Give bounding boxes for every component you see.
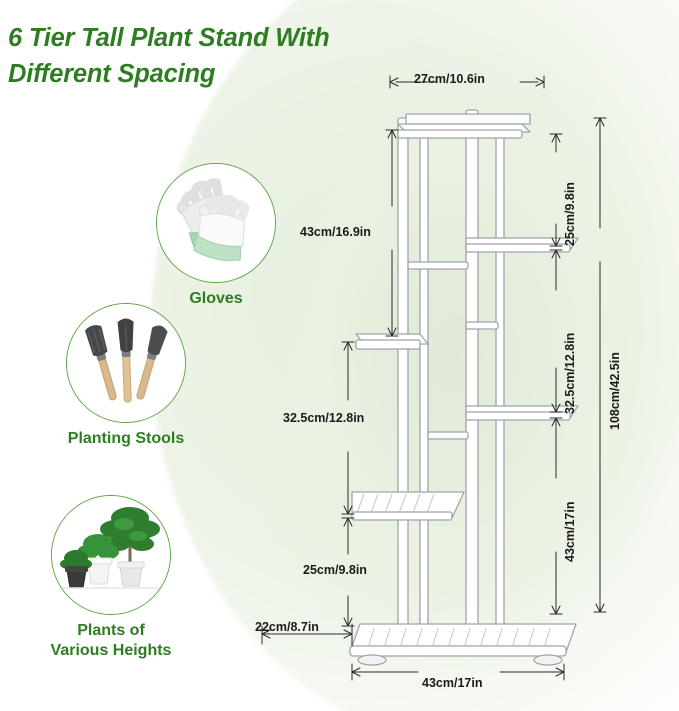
feature-plants-caption-line-2: Various Heights [51,642,172,659]
page-title-line-2: Different Spacing [8,56,408,92]
feature-stools-image [66,303,186,423]
dimension-right-third-gap: 43cm/17in [563,502,577,562]
feature-stools-caption: Planting Stools [60,429,192,449]
feature-plants-image [51,495,171,615]
dimension-top-width: 27cm/10.6in [414,72,485,86]
dimension-right-second-gap: 32.5cm/12.8in [563,333,577,414]
feature-plants-caption: Plants of Various Heights [45,621,177,661]
feature-gloves-image [156,163,276,283]
product-infographic-page: 6 Tier Tall Plant Stand With Different S… [0,0,679,711]
dimension-base-width: 43cm/17in [422,676,482,690]
dimension-base-depth: 22cm/8.7in [255,620,319,634]
gardening-gloves-icon [157,164,275,282]
feature-plants: Plants of Various Heights [45,495,177,661]
page-title-line-1: 6 Tier Tall Plant Stand With [8,20,408,56]
feature-gloves: Gloves [150,163,282,309]
garden-trowel-tools-icon [67,304,185,422]
page-title: 6 Tier Tall Plant Stand With Different S… [8,20,408,92]
dimension-left-lower-gap: 25cm/9.8in [303,563,367,577]
potted-plants-icon [52,496,170,614]
feature-planting-stools: Planting Stools [60,303,192,449]
feature-plants-caption-line-1: Plants of [77,622,145,639]
dimension-total-height: 108cm/42.5in [608,352,622,430]
dimension-left-upper-gap: 43cm/16.9in [300,225,371,239]
dimension-left-middle-gap: 32.5cm/12.8in [283,411,364,425]
dimension-right-top-gap: 25cm/9.8in [563,182,577,246]
